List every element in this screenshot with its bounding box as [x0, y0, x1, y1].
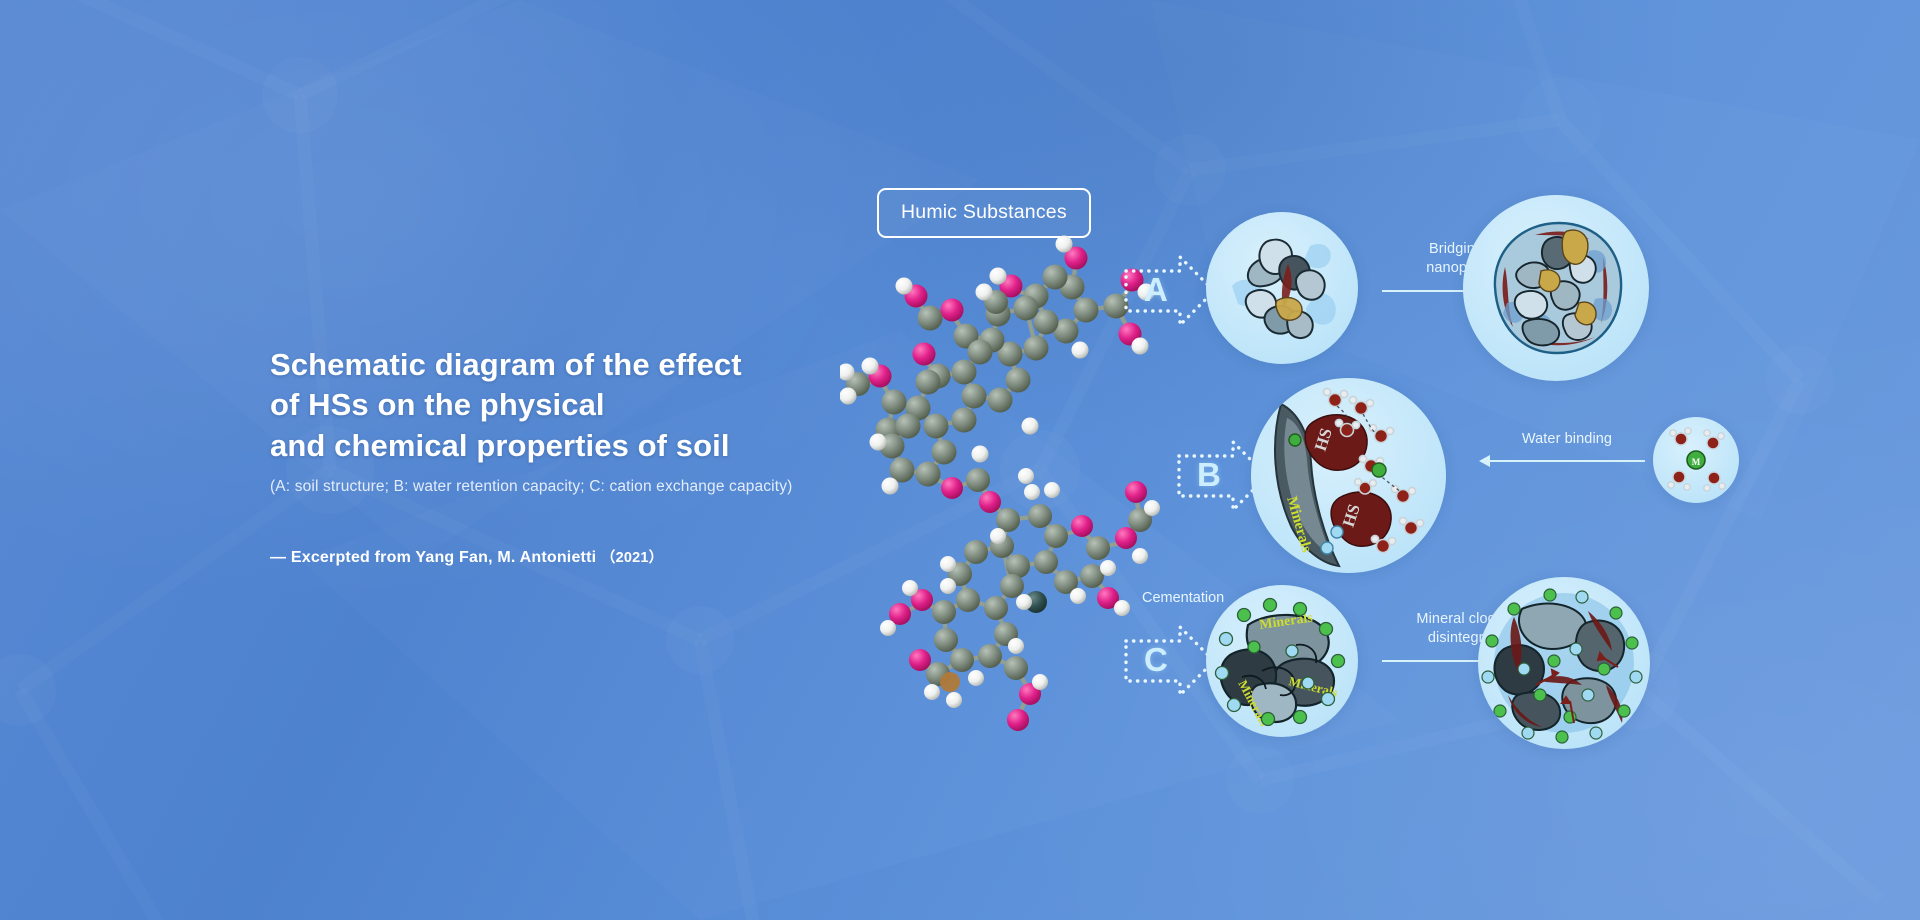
humic-substances-label-text: Humic Substances [901, 201, 1067, 223]
title-block: Schematic diagram of the effect of HSs o… [270, 345, 910, 567]
bridged-soil-aggregate-art [1463, 195, 1649, 381]
cation-symbol: M [1692, 457, 1701, 467]
loose-soil-particles-art [1206, 212, 1358, 364]
disintegrated-mineral-cluster-art [1478, 577, 1650, 749]
flow-arrowhead-b [1479, 455, 1490, 467]
circle-hydrated-cation: M [1653, 417, 1739, 503]
circle-bridged-soil-aggregate [1463, 195, 1649, 381]
flow-label-b: Water binding [1479, 430, 1655, 449]
page-title-line-2: of HSs on the physical [270, 385, 910, 425]
source-attribution: — Excerpted from Yang Fan, M. Antonietti… [270, 546, 910, 567]
circle-loose-soil-particles [1206, 212, 1358, 364]
humic-substance-molecule [840, 230, 1170, 750]
attribution-text: — Excerpted from Yang Fan, M. Antonietti [270, 549, 596, 566]
page-title: Schematic diagram of the effect of HSs o… [270, 345, 910, 466]
step-badge-c: C [1122, 619, 1218, 703]
step-badge-b-letter: B [1197, 456, 1221, 494]
page-title-line-3: and chemical properties of soil [270, 426, 910, 466]
cemented-mineral-cluster-art: Minerals Minerals Minerals [1206, 585, 1358, 737]
flow-line-b [1489, 460, 1645, 462]
dotted-arrow-shape-c [1122, 619, 1218, 703]
page-title-line-1: Schematic diagram of the effect [270, 345, 910, 385]
flow-water-binding: Water binding [1479, 460, 1655, 462]
circle-disintegrated-mineral-cluster [1478, 577, 1650, 749]
circle-hs-mineral-water-complex: Minerals HS HS [1251, 378, 1446, 573]
page-subtitle: (A: soil structure; B: water retention c… [270, 478, 910, 496]
circle-cemented-mineral-cluster: Minerals Minerals Minerals [1206, 585, 1358, 737]
hydrated-cation-art: M [1653, 417, 1739, 503]
step-badge-a-letter: A [1144, 271, 1168, 309]
poster-canvas: Schematic diagram of the effect of HSs o… [0, 0, 1920, 920]
hs-mineral-water-complex-art: Minerals HS HS [1251, 378, 1446, 573]
attribution-year: （2021） [601, 550, 663, 566]
step-badge-a: A [1122, 249, 1218, 333]
step-badge-c-letter: C [1144, 641, 1168, 679]
dotted-arrow-shape-a [1122, 249, 1218, 333]
